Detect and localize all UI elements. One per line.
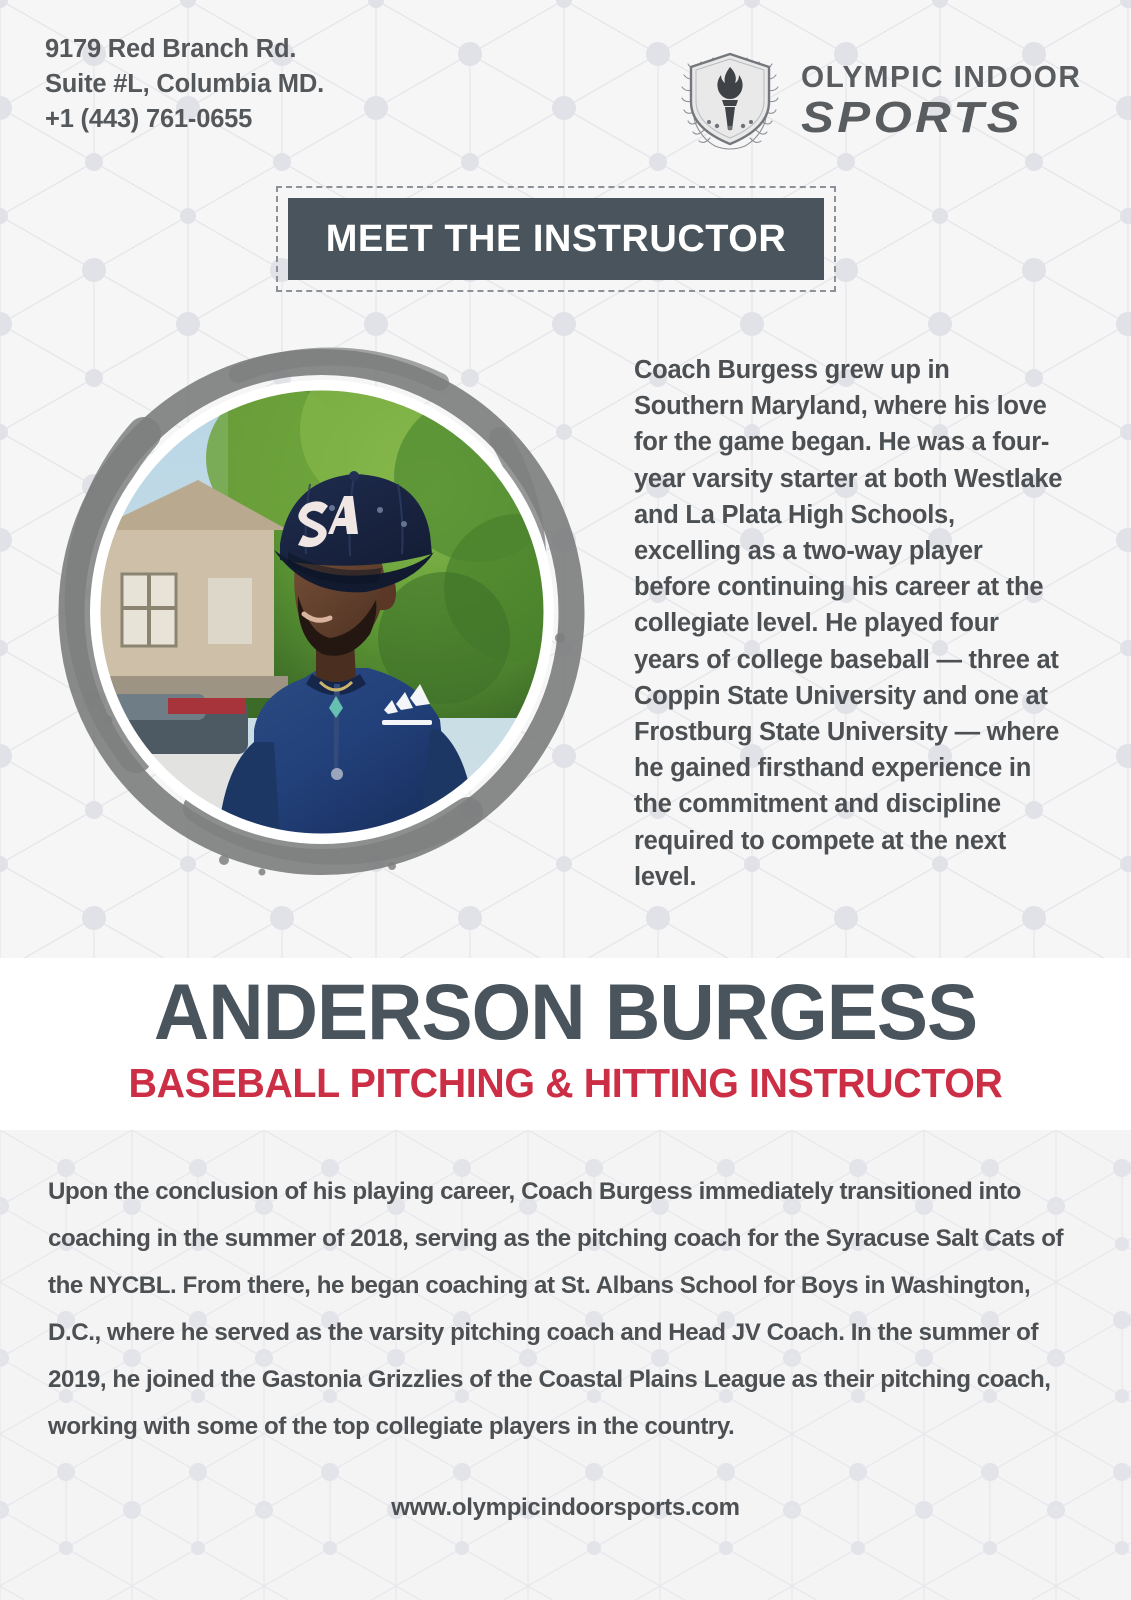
business-address: 9179 Red Branch Rd. Suite #L, Columbia M…: [45, 32, 324, 138]
banner-label: MEET THE INSTRUCTOR: [326, 218, 787, 261]
brand-wordmark: OLYMPIC INDOOR SPORTS: [801, 59, 1093, 139]
instructor-title: BASEBALL PITCHING & HITTING INSTRUCTOR: [23, 1063, 1109, 1104]
shield-torch-laurel-icon: [671, 40, 789, 158]
meet-the-instructor-banner: MEET THE INSTRUCTOR: [276, 186, 836, 292]
instructor-name: ANDERSON BURGESS: [17, 972, 1114, 1051]
instructor-bio-paragraph: Coach Burgess grew up in Southern Maryla…: [634, 352, 1064, 895]
instructor-flyer: 9179 Red Branch Rd. Suite #L, Columbia M…: [0, 0, 1131, 1600]
instructor-portrait: [48, 338, 596, 886]
instructor-name-block: ANDERSON BURGESS BASEBALL PITCHING & HIT…: [0, 958, 1131, 1130]
website-url[interactable]: www.olympicindoorsports.com: [0, 1494, 1131, 1522]
banner-fill: MEET THE INSTRUCTOR: [288, 198, 824, 280]
brand-name-line1: OLYMPIC INDOOR: [801, 59, 1081, 95]
brand-name-line2: SPORTS: [801, 97, 1128, 139]
brand-logo: OLYMPIC INDOOR SPORTS: [671, 40, 1093, 158]
coaching-history-paragraph: Upon the conclusion of his playing caree…: [48, 1168, 1068, 1450]
header: 9179 Red Branch Rd. Suite #L, Columbia M…: [0, 0, 1131, 175]
